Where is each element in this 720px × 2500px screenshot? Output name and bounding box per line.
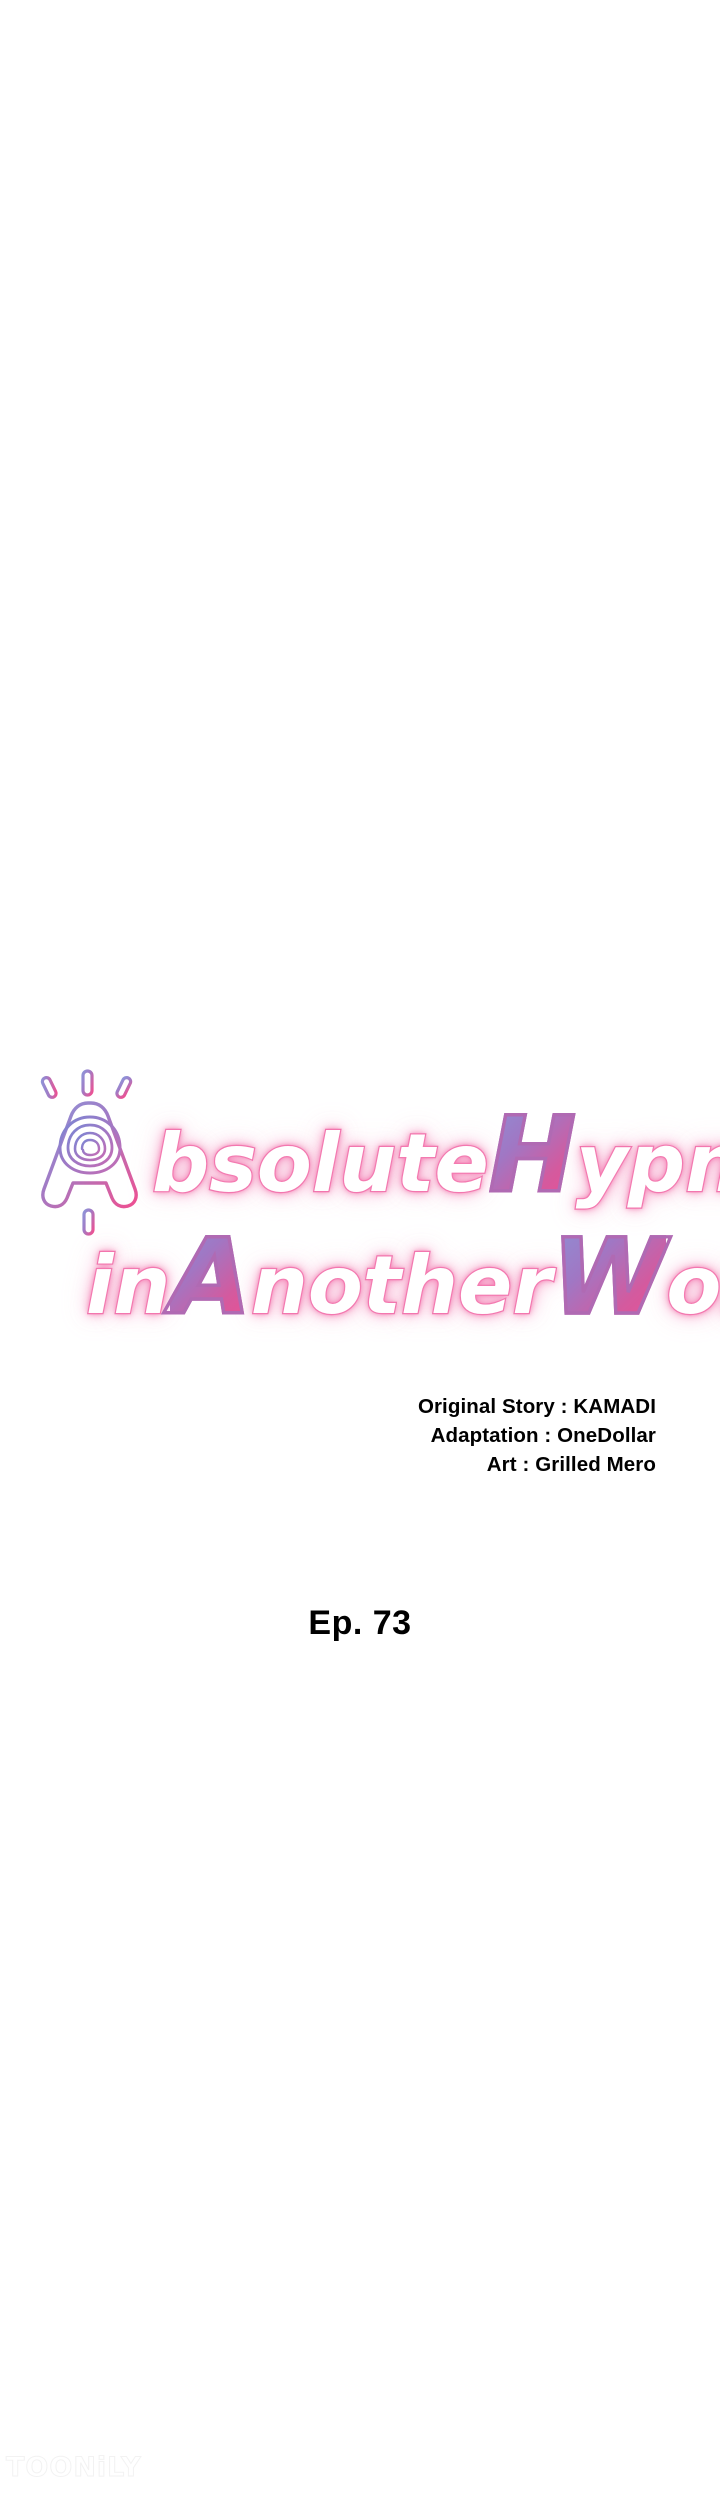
credit-art: Art : Grilled Mero [0, 1450, 656, 1479]
title-word-nother: nother [251, 1246, 552, 1326]
title-line-1: bsolute H ypnosis [0, 1103, 720, 1207]
credit-original-story: Original Story : KAMADI [0, 1392, 656, 1421]
title-word-ypnosis: ypnosis [576, 1124, 720, 1204]
title-word-in: in [86, 1246, 170, 1326]
credits-block: Original Story : KAMADI Adaptation : One… [0, 1392, 656, 1479]
title-cap-a2: A [170, 1225, 251, 1329]
title-cap-w: W [552, 1225, 667, 1329]
site-watermark: TOONiLY [6, 2452, 142, 2483]
title-word-bsolute: bsolute [152, 1124, 489, 1204]
credit-adaptation: Adaptation : OneDollar [0, 1421, 656, 1450]
title-cap-h: H [489, 1103, 576, 1207]
series-title-logo: bsolute H ypnosis in A nother W orld [0, 1055, 720, 1375]
episode-label: Ep. 73 [0, 1602, 720, 1644]
comic-page: bsolute H ypnosis in A nother W orld Ori… [0, 0, 720, 2500]
title-word-orld: orld [666, 1246, 720, 1326]
title-line-2: in A nother W orld [0, 1225, 720, 1329]
